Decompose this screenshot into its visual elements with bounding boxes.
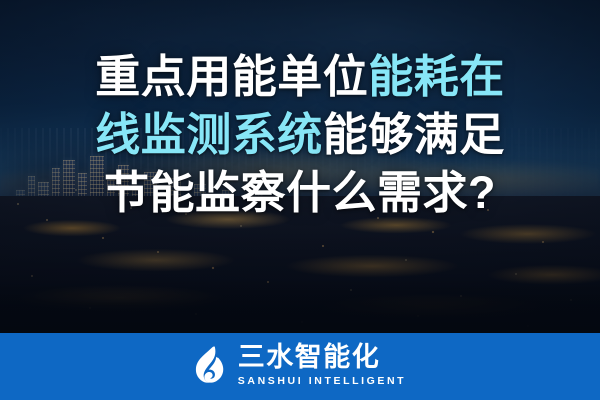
logo-lockup: 三水智能化 SANSHUI INTELLIGENT [194, 344, 406, 387]
company-name-en: SANSHUI INTELLIGENT [238, 376, 406, 387]
headline-line-2: 线监测系统能够满足 [0, 106, 600, 164]
headline-line-1: 重点用能单位能耗在 [0, 48, 600, 106]
headline-segment-highlight: 线监测系统 [95, 109, 323, 160]
headline-segment: 能够满足 [323, 109, 505, 160]
headline-segment: 重点用能单位 [95, 51, 368, 102]
headline-segment-highlight: 能耗在 [368, 51, 505, 102]
water-drop-flame-logo-icon [194, 346, 227, 386]
headline-block: 重点用能单位能耗在 线监测系统能够满足 节能监察什么需求? [0, 48, 600, 222]
headline-line-3: 节能监察什么需求? [0, 164, 600, 222]
promo-banner: 重点用能单位能耗在 线监测系统能够满足 节能监察什么需求? 三水智能化 SANS… [0, 0, 600, 400]
headline-segment: 节能监察什么需求? [104, 167, 496, 218]
logo-bar: 三水智能化 SANSHUI INTELLIGENT [0, 333, 600, 400]
company-name-cn: 三水智能化 [238, 344, 381, 371]
logo-text-block: 三水智能化 SANSHUI INTELLIGENT [238, 344, 406, 387]
